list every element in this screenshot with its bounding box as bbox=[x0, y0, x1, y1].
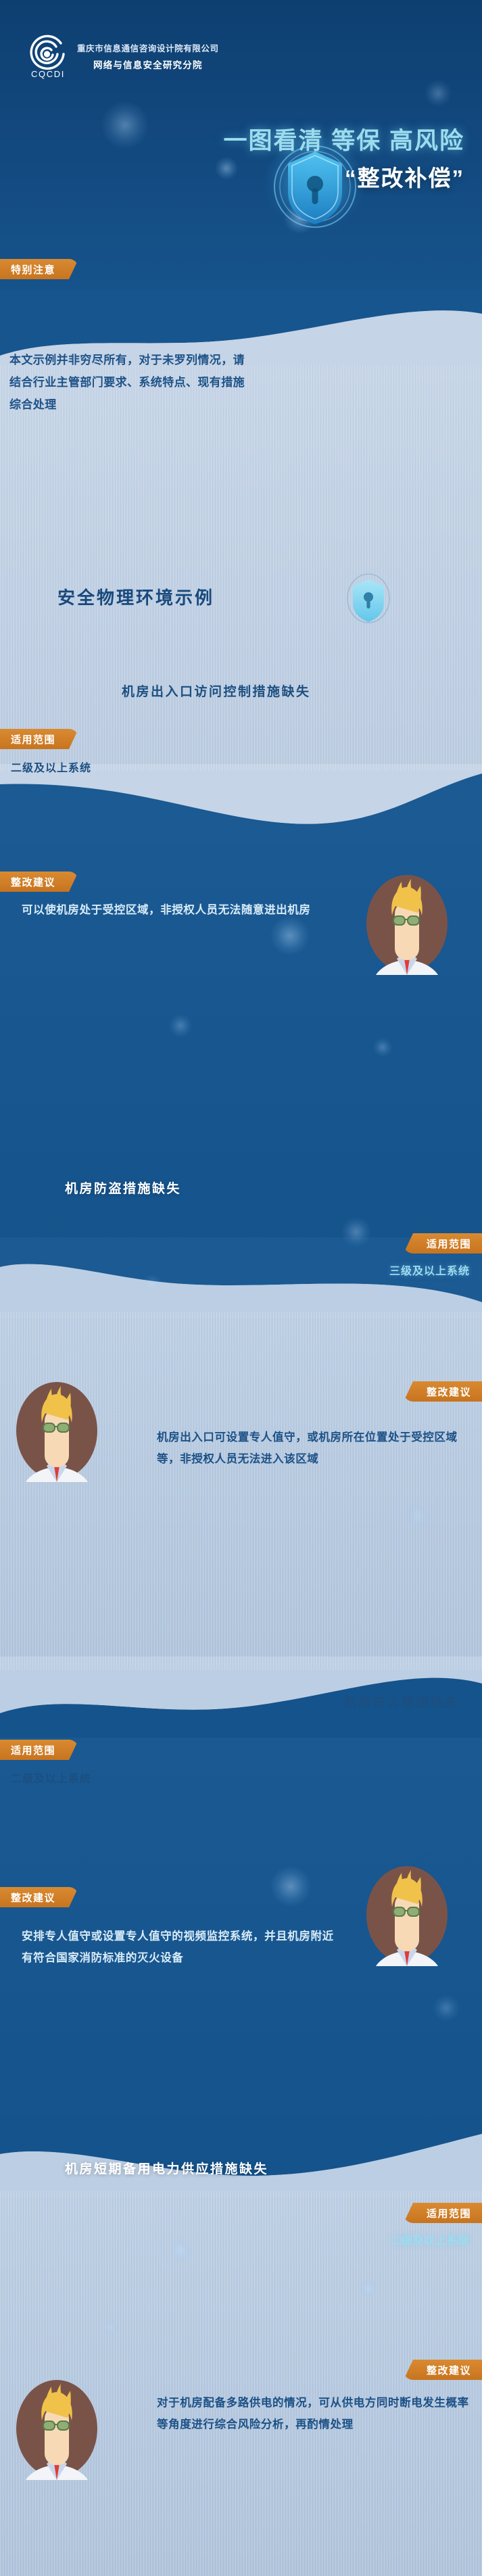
scientist-avatar-icon bbox=[15, 1381, 99, 1482]
company-name-line2: 网络与信息安全研究分院 bbox=[77, 57, 219, 71]
section-title: 安全物理环境示例 bbox=[57, 584, 214, 609]
brand-logo: CQCDI 重庆市信息通信咨询设计院有限公司 网络与信息安全研究分院 bbox=[27, 28, 219, 81]
scope-value: 二级及以上系统 bbox=[389, 2231, 470, 2247]
scientist-avatar-icon bbox=[365, 874, 449, 975]
scope-value: 二级及以上系统 bbox=[11, 1769, 91, 1786]
notice-badge[interactable]: 特别注意 bbox=[0, 259, 78, 279]
risk-title: 机房出入口访问控制措施缺失 bbox=[122, 683, 460, 702]
advice-badge[interactable]: 整改建议 bbox=[404, 2360, 482, 2380]
infographic-poster: CQCDI 重庆市信息通信咨询设计院有限公司 网络与信息安全研究分院 bbox=[0, 0, 482, 2576]
notice-text: 本文示例并非穷尽所有，对于未罗列情况，请结合行业主管部门要求、系统特点、现有措施… bbox=[9, 349, 253, 416]
advice-text: 安排专人值守或设置专人值守的视频监控系统，并且机房附近有符合国家消防标准的灭火设… bbox=[22, 1926, 339, 1969]
scope-badge[interactable]: 适用范围 bbox=[0, 1740, 78, 1760]
advice-text: 机房出入口可设置专人值守，或机房所在位置处于受控区域等，非授权人员无法进入该区域 bbox=[157, 1427, 469, 1470]
scope-value: 三级及以上系统 bbox=[389, 1262, 470, 1278]
scope-badge[interactable]: 适用范围 bbox=[404, 2203, 482, 2223]
page-title-line1: 一图看清 等保 高风险 bbox=[224, 122, 464, 156]
advice-badge[interactable]: 整改建议 bbox=[0, 1887, 78, 1907]
svg-text:CQCDI: CQCDI bbox=[31, 69, 65, 79]
advice-text: 对于机房配备多路供电的情况，可从供电方同时断电发生概率等角度进行综合风险分析，再… bbox=[157, 2392, 472, 2435]
risk-title: 机房短期备用电力供应措施缺失 bbox=[65, 2160, 383, 2180]
shield-keyhole-icon bbox=[343, 571, 393, 625]
scope-badge[interactable]: 适用范围 bbox=[404, 1233, 482, 1254]
page-title-line2: “整改补偿” bbox=[224, 160, 464, 193]
advice-text: 可以使机房处于受控区域，非授权人员无法随意进出机房 bbox=[22, 899, 333, 921]
scientist-avatar-icon bbox=[15, 2379, 99, 2480]
advice-badge[interactable]: 整改建议 bbox=[0, 872, 78, 892]
scope-value: 二级及以上系统 bbox=[11, 759, 91, 775]
scientist-avatar-icon bbox=[365, 1865, 449, 1966]
scope-badge[interactable]: 适用范围 bbox=[0, 729, 78, 749]
risk-title: 机房防火措施缺失 bbox=[122, 1694, 460, 1713]
advice-badge[interactable]: 整改建议 bbox=[404, 1381, 482, 1402]
target-spiral-icon: CQCDI bbox=[27, 28, 69, 81]
bg-band-light-3 bbox=[0, 2143, 482, 2576]
risk-title: 机房防盗措施缺失 bbox=[65, 1180, 416, 1199]
page-title: 一图看清 等保 高风险 “整改补偿” bbox=[224, 122, 464, 193]
company-name-line1: 重庆市信息通信咨询设计院有限公司 bbox=[77, 41, 219, 54]
